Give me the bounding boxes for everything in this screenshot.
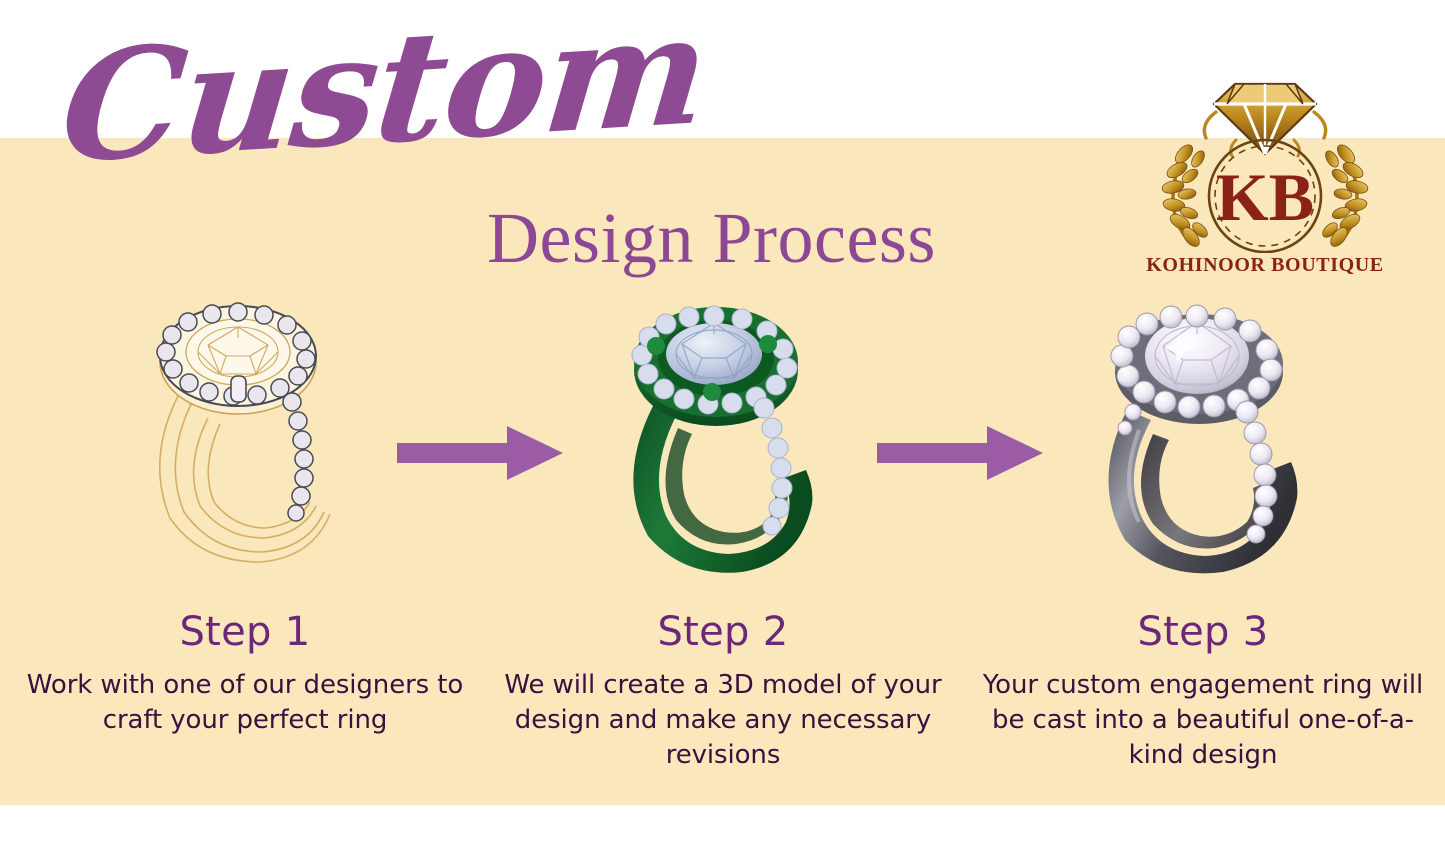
logo-monogram-text: KB — [1216, 159, 1314, 235]
step-3-description: Your custom engagement ring will be cast… — [968, 668, 1438, 773]
steps-row: Step 1 Work with one of our designers to… — [0, 300, 1445, 800]
step-1-description: Work with one of our designers to craft … — [10, 668, 480, 738]
custom-design-process-infographic: Custom Design Process — [0, 0, 1445, 849]
step-2-description: We will create a 3D model of your design… — [488, 668, 958, 773]
step-3-illustration — [968, 300, 1438, 600]
step-2-title: Step 2 — [488, 608, 958, 656]
step-2-illustration — [488, 300, 958, 600]
ring-3d-model-icon — [608, 300, 838, 580]
diamond-wreath-monogram-icon: KB — [1140, 58, 1390, 253]
pave-shoulder — [1236, 401, 1277, 543]
step-card-1: Step 1 Work with one of our designers to… — [10, 300, 480, 800]
pave-shoulder — [283, 393, 313, 521]
step-1-title: Step 1 — [10, 608, 480, 656]
brand-logo: KB KOHINOOR BOUTIQUE — [1140, 58, 1390, 283]
pave-shoulder — [754, 398, 792, 535]
brand-name-text: KOHINOOR BOUTIQUE — [1140, 254, 1390, 277]
logo-mark: KB — [1140, 58, 1390, 253]
step-3-title: Step 3 — [968, 608, 1438, 656]
ring-photo-icon — [1083, 300, 1323, 580]
step-card-3: Step 3 Your custom engagement ring will … — [968, 300, 1438, 800]
page-subtitle: Design Process — [487, 196, 936, 280]
ring-sketch-icon — [130, 300, 360, 570]
step-1-illustration — [10, 300, 480, 600]
step-card-2: Step 2 We will create a 3D model of your… — [488, 300, 958, 800]
